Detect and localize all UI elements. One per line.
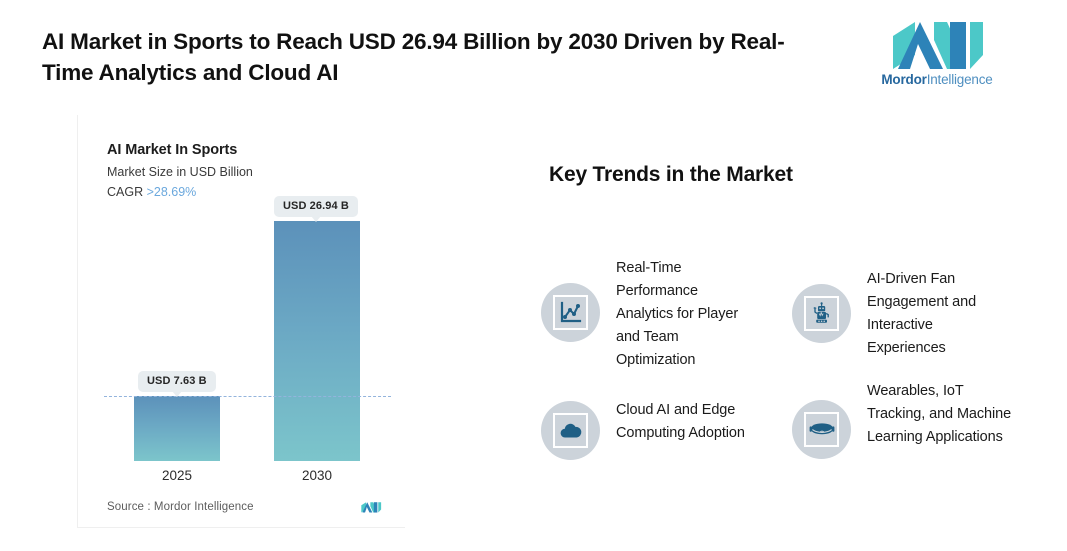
trend-icon-badge [792,400,851,459]
bar-chart-plot-area: USD 7.63 B USD 26.94 B 2025 2030 [78,115,406,528]
chart-source-row: Source : Mordor Intelligence [107,500,382,513]
vr-goggles-icon [804,412,839,447]
brand-logo: MordorIntelligence [878,14,996,96]
cloud-icon-glyph [559,420,583,442]
chart-source-text: Source : Mordor Intelligence [107,501,254,513]
trend-item-label: Wearables, IoT Tracking, and Machine Lea… [867,380,1017,449]
robot-icon-glyph [810,302,834,326]
logo-word-bold: Mordor [881,72,926,87]
trend-item: Real-Time Performance Analytics for Play… [541,257,751,372]
trend-item: Cloud AI and Edge Computing Adoption [541,399,756,460]
mordor-intelligence-logo-mark [887,14,987,69]
bar-2030 [274,221,360,461]
bar-2025 [134,396,220,461]
cloud-icon [553,413,588,448]
robot-icon [804,296,839,331]
reference-dashed-line [104,396,391,397]
trend-item-label: Cloud AI and Edge Computing Adoption [616,399,756,445]
vr-goggles-icon-glyph [809,420,835,440]
trend-icon-badge [792,284,851,343]
line-chart-icon-glyph [559,301,583,325]
trend-item: AI-Driven Fan Engagement and Interactive… [792,268,1012,360]
page-header: AI Market in Sports to Reach USD 26.94 B… [0,0,1067,110]
logo-wordmark: MordorIntelligence [881,72,992,88]
bar-label-2025: USD 7.63 B [138,371,216,392]
line-chart-icon [553,295,588,330]
trend-item-label: Real-Time Performance Analytics for Play… [616,257,751,372]
bar-label-2030: USD 26.94 B [274,196,358,217]
chart-panel: AI Market In Sports Market Size in USD B… [77,115,405,528]
logo-word-light: Intelligence [927,72,993,87]
trend-item-label: AI-Driven Fan Engagement and Interactive… [867,268,1012,360]
page-title: AI Market in Sports to Reach USD 26.94 B… [42,26,832,88]
trend-icon-badge [541,283,600,342]
source-logo-mark [360,500,382,513]
axis-label-2025: 2025 [134,468,220,483]
trend-item: Wearables, IoT Tracking, and Machine Lea… [792,380,1017,459]
axis-label-2030: 2030 [274,468,360,483]
key-trends-heading: Key Trends in the Market [549,163,793,187]
trend-icon-badge [541,401,600,460]
